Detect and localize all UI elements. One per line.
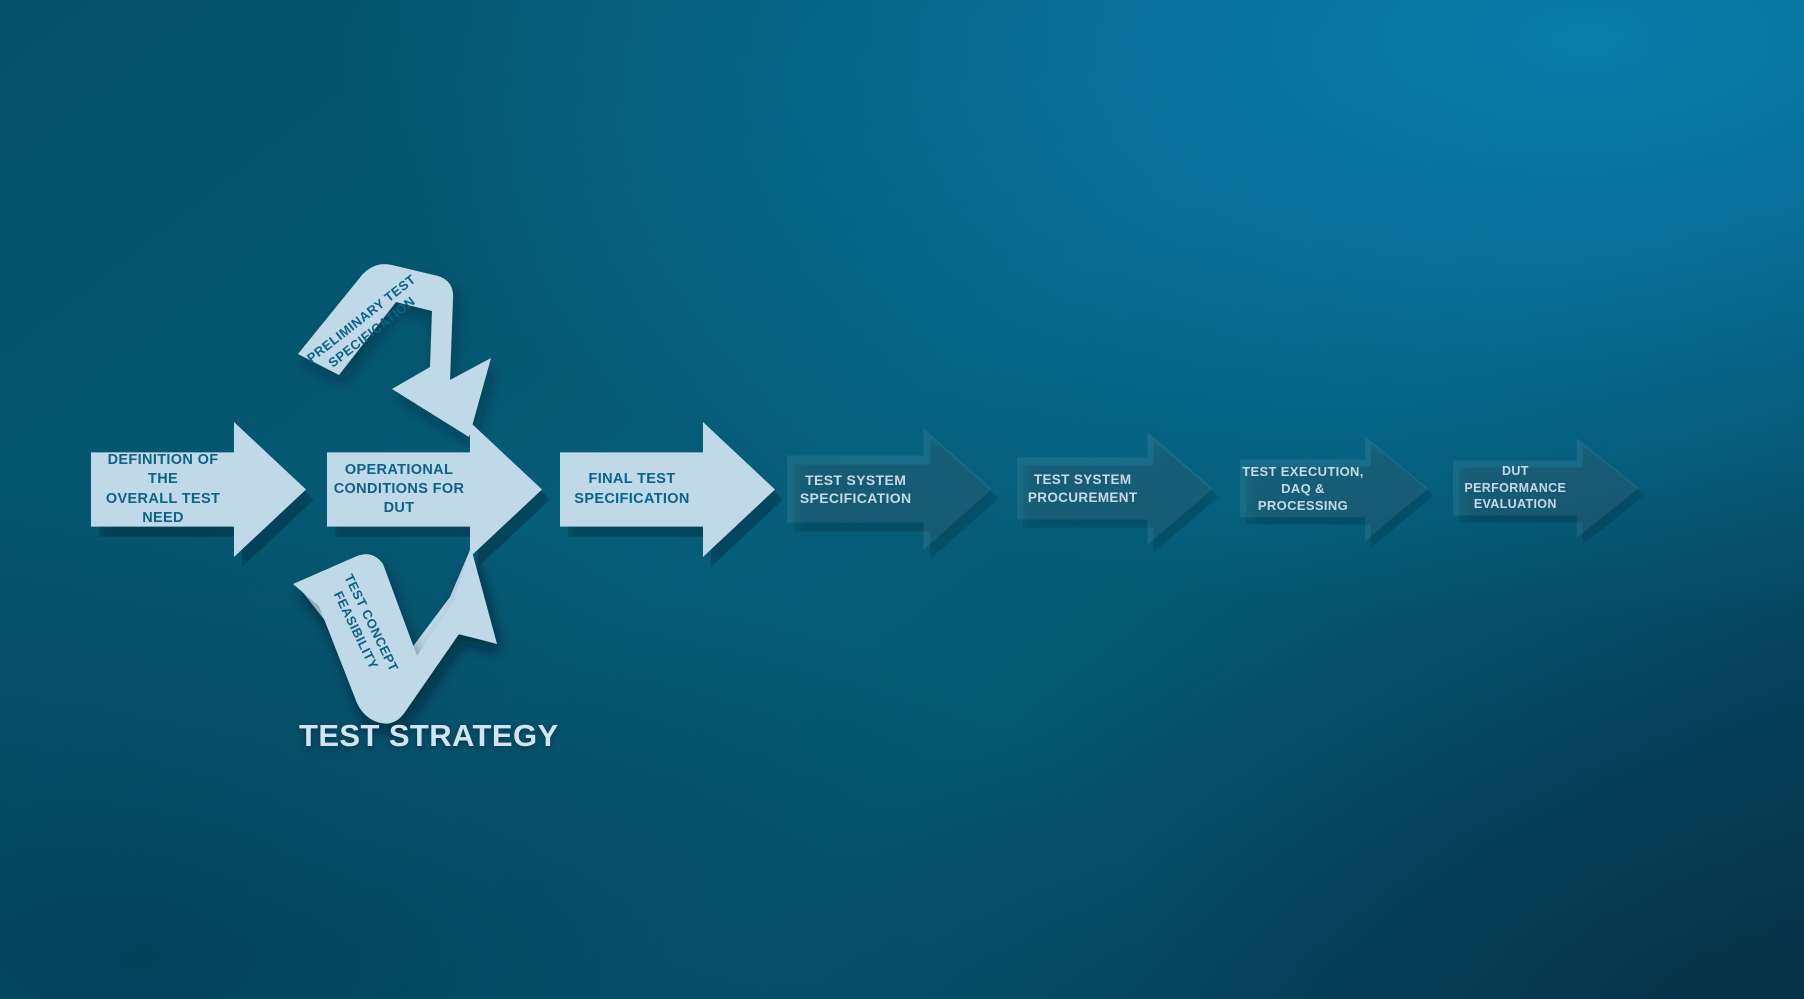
stage-label-final-test-specification: FINAL TEST SPECIFICATION: [560, 470, 775, 508]
branch-arrow-preliminary-shape: [295, 262, 575, 422]
stage-arrow-test-system-specification[interactable]: TEST SYSTEM SPECIFICATION: [787, 428, 992, 550]
stage-label-operational-conditions-for-dut: OPERATIONAL CONDITIONS FOR DUT: [327, 461, 542, 518]
diagram-canvas: PRELIMINARY TEST SPECIFICATION TEST CONC…: [0, 0, 1804, 999]
stage-arrow-test-execution-daq-processing[interactable]: TEST EXECUTION, DAQ & PROCESSING: [1240, 436, 1428, 541]
branch-arrow-feasibility-shape: [295, 562, 575, 722]
stage-arrow-dut-performance-evaluation[interactable]: DUT PERFORMANCE EVALUATION: [1453, 438, 1639, 538]
stage-label-test-system-procurement: TEST SYSTEM PROCUREMENT: [1017, 471, 1213, 507]
diagram-title: TEST STRATEGY: [299, 718, 559, 754]
stage-label-test-system-specification: TEST SYSTEM SPECIFICATION: [787, 471, 992, 508]
branch-arrow-preliminary-test-specification[interactable]: PRELIMINARY TEST SPECIFICATION: [295, 262, 575, 422]
stage-arrow-test-system-procurement[interactable]: TEST SYSTEM PROCUREMENT: [1017, 432, 1213, 545]
stage-label-test-execution-daq-processing: TEST EXECUTION, DAQ & PROCESSING: [1240, 463, 1428, 514]
stage-label-definition-of-overall-test-need: DEFINITION OF THE OVERALL TEST NEED: [91, 451, 306, 528]
stage-label-dut-performance-evaluation: DUT PERFORMANCE EVALUATION: [1453, 463, 1639, 513]
branch-arrow-test-concept-feasibility[interactable]: TEST CONCEPT FEASIBILITY: [295, 562, 575, 722]
